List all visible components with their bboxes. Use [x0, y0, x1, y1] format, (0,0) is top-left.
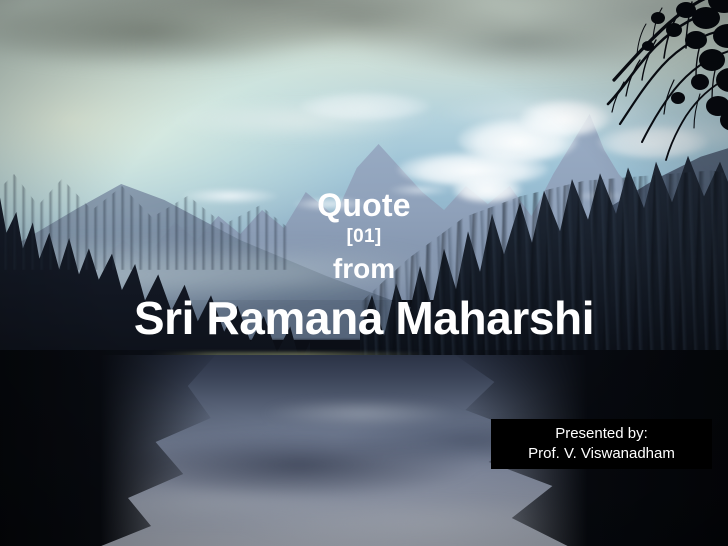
cloud-puff [300, 92, 430, 120]
cloud-puff [598, 126, 708, 158]
presenter-box: Presented by: Prof. V. Viswanadham [491, 419, 712, 469]
presented-by-label: Presented by: [555, 424, 648, 444]
cloud-puff [520, 100, 610, 136]
title-line-quote: Quote [0, 186, 728, 224]
title-line-from: from [0, 250, 728, 288]
title-line-author: Sri Ramana Maharshi [0, 290, 728, 346]
title-line-number: [01] [0, 224, 728, 250]
title-block: Quote [01] from Sri Ramana Maharshi [0, 186, 728, 346]
presenter-name: Prof. V. Viswanadham [528, 444, 675, 464]
title-slide: Quote [01] from Sri Ramana Maharshi Pres… [0, 0, 728, 546]
